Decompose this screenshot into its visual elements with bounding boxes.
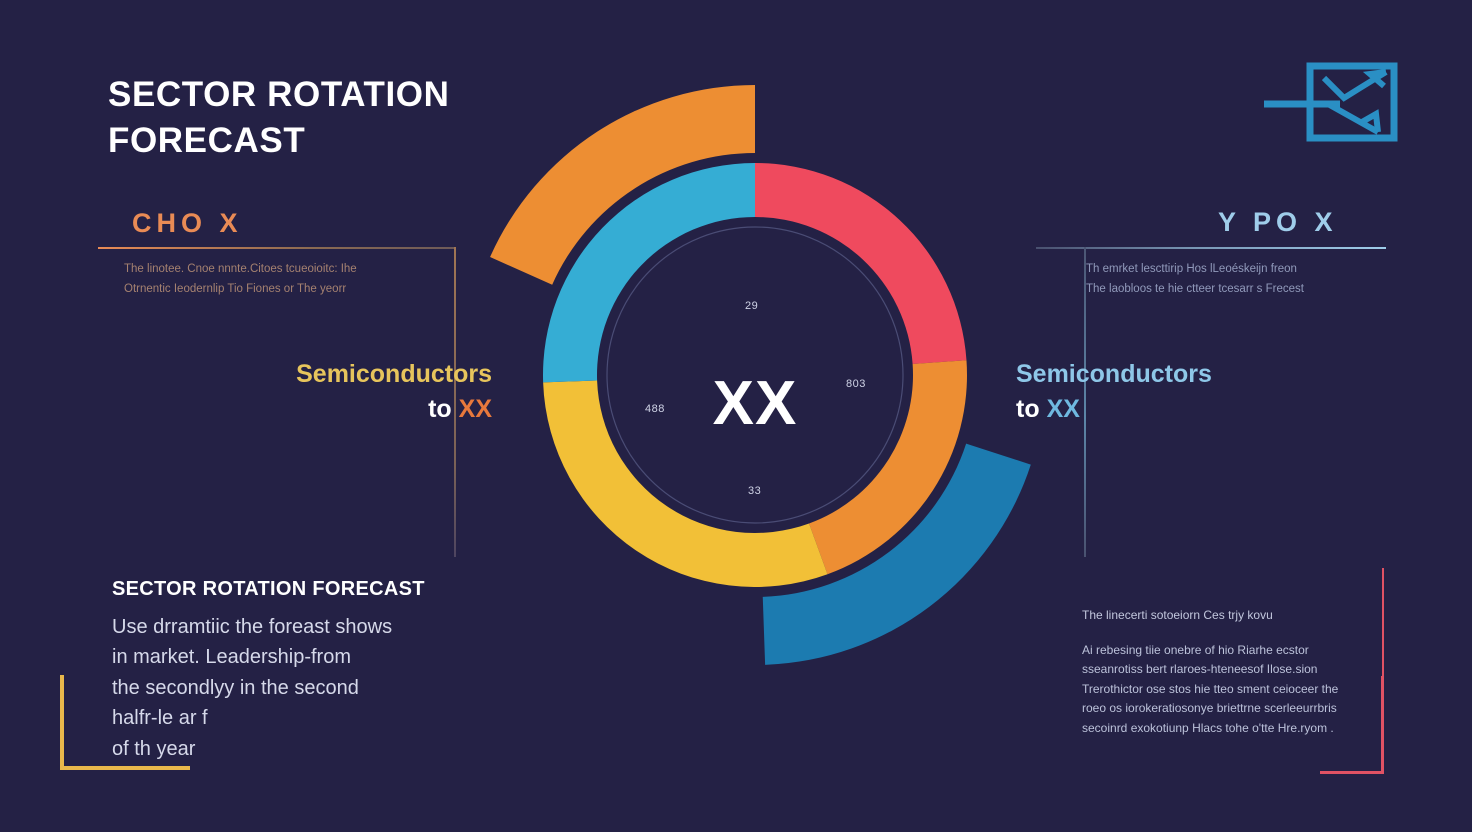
right-kicker-line-2: to XX — [1016, 392, 1328, 427]
right-panel-body-line-2: The laobloos te hie ctteer tcesarr s Fre… — [1086, 280, 1386, 300]
bottom-left-title: SECTOR ROTATION FORECAST — [112, 578, 425, 601]
bottom-right-bracket-top — [1382, 568, 1384, 676]
bottom-left-body-line-1: Use drramtiic the foreast shows — [112, 612, 462, 642]
left-panel-heading: CHO X — [132, 208, 243, 239]
bottom-right-bracket-bottom — [1320, 676, 1384, 774]
left-kicker-line-2: to XX — [180, 392, 492, 427]
right-panel-body: Th emrket lescttirip Hos lLeoéskeijn fre… — [1086, 260, 1386, 300]
donut-inner-segment-0 — [755, 163, 966, 364]
donut-value-bottom: 33 — [748, 485, 761, 497]
donut-center-label: XX — [660, 368, 850, 439]
right-panel-kicker: Semiconductors to XX — [1016, 357, 1328, 426]
bottom-right-lead: The linecerti sotoeiorn Ces trjy kovu — [1082, 606, 1382, 625]
right-panel-heading: Y PO X — [1218, 207, 1338, 238]
donut-value-top: 29 — [745, 300, 758, 312]
left-kicker-line-1: Semiconductors — [180, 357, 492, 392]
chart-arrows-icon — [1262, 58, 1410, 150]
right-kicker-line-1: Semiconductors — [1016, 357, 1328, 392]
bottom-left-body-line-2: in market. Leadership-from — [112, 642, 462, 672]
right-panel-body-line-1: Th emrket lescttirip Hos lLeoéskeijn fre… — [1086, 260, 1386, 280]
bottom-right-body-line-1: Ai rebesing tiie onebre of hio Riarhe ec… — [1082, 641, 1382, 660]
left-panel-body-line-2: Otrnentic Ieodernlip Tio Fiones or The y… — [124, 280, 424, 300]
left-panel-divider — [98, 247, 456, 249]
infographic-canvas: SECTOR ROTATION FORECAST CHO X The linot… — [0, 0, 1472, 832]
left-panel-body-line-1: The linotee. Cnoe nnnte.Citoes tcueoioit… — [124, 260, 424, 280]
left-kicker-prefix: to — [428, 395, 452, 423]
bottom-left-bracket — [60, 675, 190, 770]
right-panel-divider — [1036, 247, 1386, 249]
left-panel-body: The linotee. Cnoe nnnte.Citoes tcueoioit… — [124, 260, 424, 300]
left-panel-kicker: Semiconductors to XX — [180, 357, 492, 426]
